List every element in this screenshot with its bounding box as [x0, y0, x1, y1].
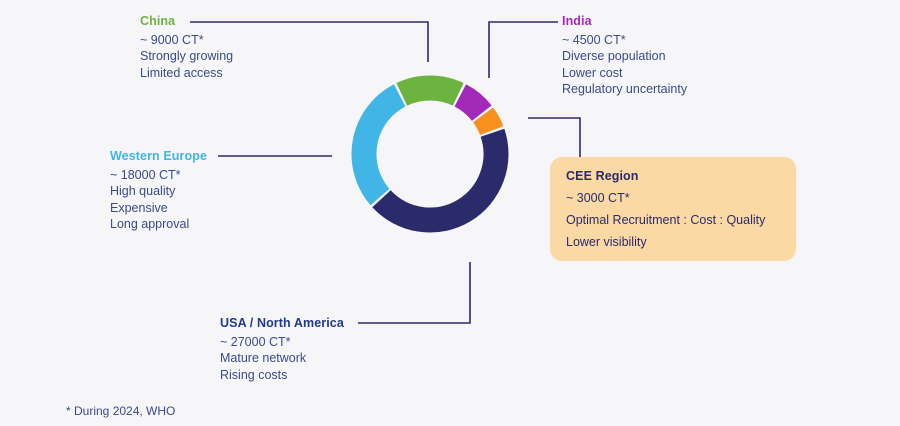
- callout-china: China ~ 9000 CT* Strongly growing Limite…: [140, 13, 233, 81]
- callout-usa-note-1: Rising costs: [220, 367, 344, 384]
- callout-india-note-2: Regulatory uncertainty: [562, 81, 687, 98]
- callout-china-title: China: [140, 13, 233, 30]
- callout-india-value: ~ 4500 CT*: [562, 32, 687, 49]
- connector-usa: [358, 262, 470, 323]
- callout-usa-value: ~ 27000 CT*: [220, 334, 344, 351]
- callout-western-europe-title: Western Europe: [110, 148, 207, 165]
- callout-usa: USA / North America ~ 27000 CT* Mature n…: [220, 315, 344, 383]
- callout-india-title: India: [562, 13, 687, 30]
- callout-western-europe-note-2: Long approval: [110, 216, 207, 233]
- donut-slice-china: [402, 88, 459, 94]
- callout-china-note-1: Limited access: [140, 65, 233, 82]
- donut-slice-usa: [382, 133, 497, 220]
- callout-india-note-0: Diverse population: [562, 48, 687, 65]
- callout-china-value: ~ 9000 CT*: [140, 32, 233, 49]
- callout-western-europe-note-0: High quality: [110, 183, 207, 200]
- callout-china-note-0: Strongly growing: [140, 48, 233, 65]
- donut-slice-western-europe: [364, 95, 400, 197]
- callout-western-europe-note-1: Expensive: [110, 200, 207, 217]
- callout-cee-region-title: CEE Region: [566, 169, 780, 183]
- donut-chart-svg: [338, 62, 522, 246]
- callout-cee-region-note-1: Lower visibility: [566, 235, 780, 249]
- connector-cee: [528, 118, 580, 158]
- donut-slice-cee: [483, 115, 492, 131]
- callout-india-note-1: Lower cost: [562, 65, 687, 82]
- callout-western-europe: Western Europe ~ 18000 CT* High quality …: [110, 148, 207, 233]
- infographic-canvas: China ~ 9000 CT* Strongly growing Limite…: [0, 0, 900, 426]
- callout-cee-region-card: CEE Region ~ 3000 CT* Optimal Recruitmen…: [550, 157, 796, 261]
- callout-cee-region-value: ~ 3000 CT*: [566, 191, 780, 205]
- callout-cee-region-note-0: Optimal Recruitment : Cost : Quality: [566, 213, 780, 227]
- callout-usa-title: USA / North America: [220, 315, 344, 332]
- callout-india: India ~ 4500 CT* Diverse population Lowe…: [562, 13, 687, 98]
- donut-chart: [338, 62, 522, 246]
- callout-western-europe-value: ~ 18000 CT*: [110, 167, 207, 184]
- donut-slice-india: [460, 95, 481, 113]
- footnote: * During 2024, WHO: [66, 404, 175, 418]
- callout-usa-note-0: Mature network: [220, 350, 344, 367]
